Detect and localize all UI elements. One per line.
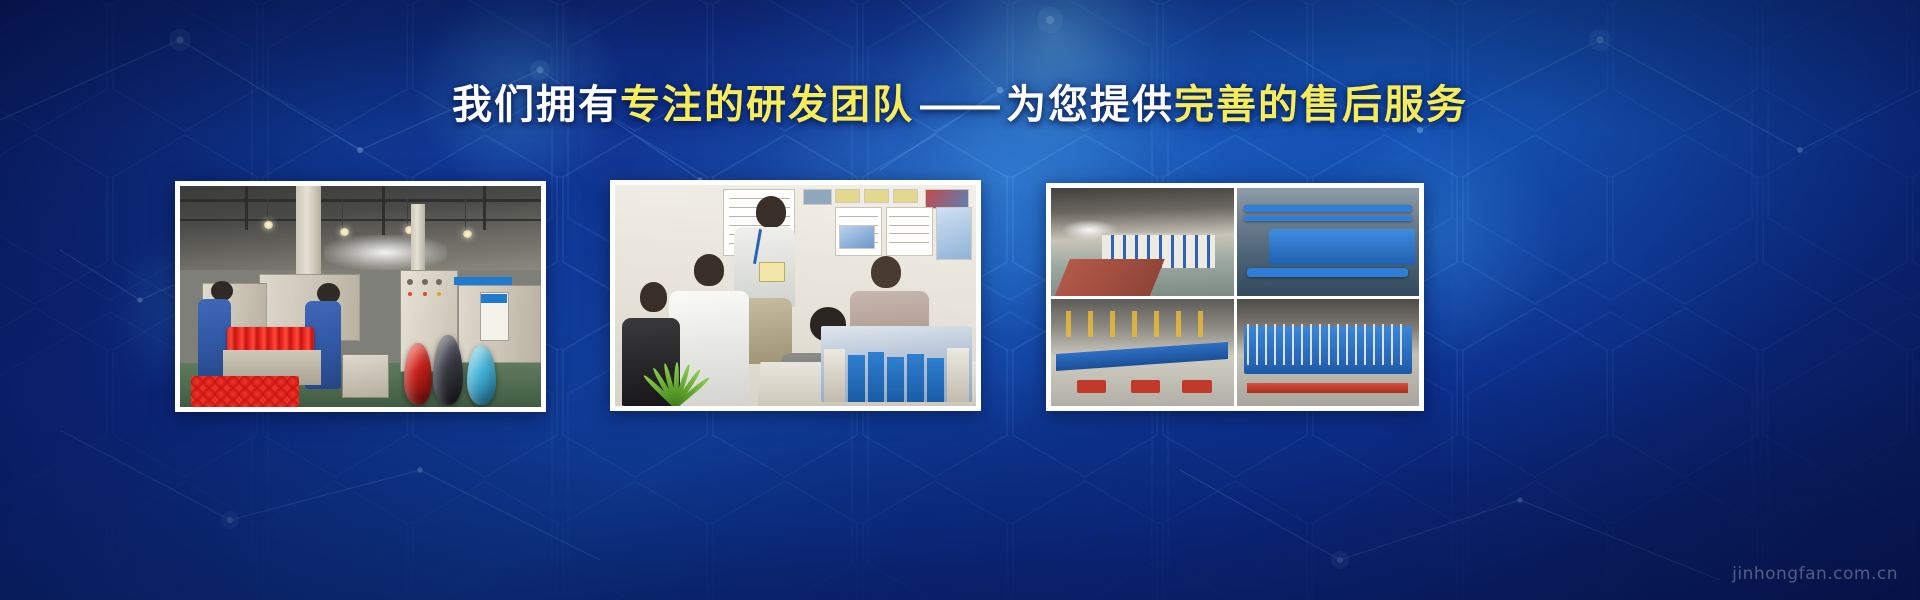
red-trolley [1131,380,1160,393]
poster-equipment-diagram [839,225,875,249]
indicator-light [423,292,427,296]
headline-segment-2-highlight: 专注的研发团队 [620,83,914,127]
plastic-crate [342,354,389,398]
glass-vase-black [433,335,463,405]
presenter-head [756,196,786,228]
photo-team-meeting-image [615,185,976,406]
glass-vase-red [404,343,432,405]
lamp-wire [465,199,466,232]
overhead-framework [1066,311,1219,337]
poster-diagram-2 [886,207,933,256]
promotional-banner: 我们拥有专注的研发团队——为您提供完善的售后服务 [0,0,1920,600]
poster-certificate-2 [864,189,889,202]
equipment-photo-inset [821,326,973,401]
blue-tunnel-oven [1269,229,1415,266]
photo-equipment-collage[interactable] [1046,183,1424,411]
blue-conveyor [1056,342,1228,371]
info-sheet-header [481,294,506,303]
attendee-head-woman-right [871,256,901,288]
red-base-rail [1247,383,1408,393]
collage-cell-blue-tunnel [1237,188,1420,296]
poster-certificate-3 [893,189,918,202]
photo-production-line-image [180,186,541,407]
collage-cell-hanging-rack [1237,299,1420,407]
attendee-head-man [694,254,724,286]
presenter-badge [759,262,784,282]
poster-certificate-1 [835,189,860,202]
roof-beam [483,186,486,230]
lamp-wire [267,199,268,223]
blue-pipe [1244,205,1412,212]
red-floor-walkway [1055,259,1165,296]
hanging-hooks-array [1247,324,1408,365]
poster-photo-thumb [803,189,832,204]
headline-segment-3: 为您提供 [1006,83,1174,127]
red-trolley [1182,380,1211,393]
headline-segment-1: 我们拥有 [452,83,620,127]
photo-team-meeting[interactable] [610,180,981,411]
roof-beam [245,186,248,230]
blue-pipe [1247,268,1408,277]
red-glass-balls-tray [191,376,299,407]
roof-beam [180,199,541,202]
headline-segment-4-highlight: 完善的售后服务 [1174,83,1468,127]
attendee-head-woman-left [640,282,667,312]
poster-machine-image [936,207,972,260]
potted-plant [626,349,720,406]
lamp-wire [342,199,343,230]
red-product-row [227,327,314,351]
lamp-wire [407,199,408,228]
red-trolley [1077,380,1106,393]
support-column [411,204,425,279]
banner-headline: 我们拥有专注的研发团队——为您提供完善的售后服务 [0,82,1920,128]
roof-beam [382,186,385,235]
machine-name-plate [454,277,512,286]
ceiling-window-light [324,235,447,270]
blue-pipe [1244,216,1412,221]
headline-divider-dash: —— [914,83,1006,127]
control-knob [422,279,428,285]
collage-cell-workshop-hall [1051,188,1234,296]
photo-production-line[interactable] [175,181,546,412]
collage-grid [1051,188,1419,406]
photo-equipment-collage-image [1051,188,1419,406]
roof-beam [180,219,541,221]
collage-cell-conveyor-line [1051,299,1234,407]
site-watermark: jinhongfan.com.cn [1732,564,1898,584]
